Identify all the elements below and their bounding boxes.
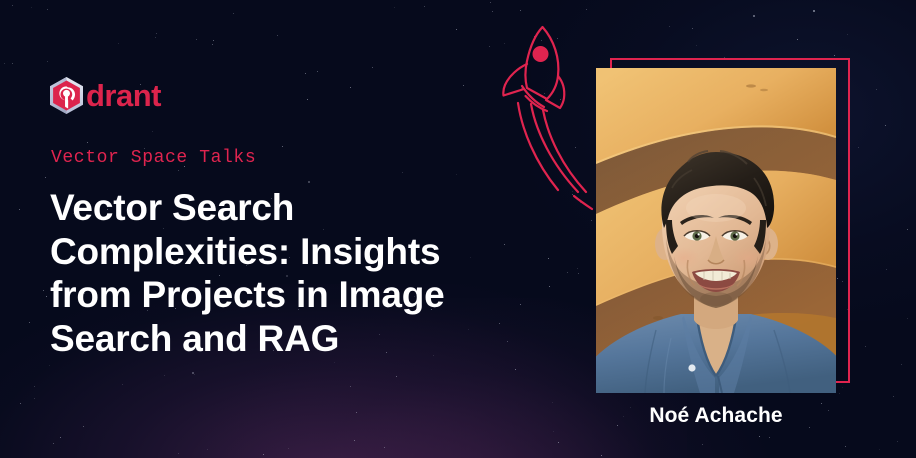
rocket-icon bbox=[494, 24, 604, 224]
series-label: Vector Space Talks bbox=[51, 148, 256, 168]
qdrant-logo[interactable]: drant bbox=[50, 76, 161, 114]
speaker-photo bbox=[596, 68, 836, 393]
talk-title: Vector Search Complexities: Insights fro… bbox=[50, 186, 480, 361]
qdrant-cube-logo-icon bbox=[50, 77, 83, 114]
talk-promo-slide: drant Vector Space Talks Vector Search C… bbox=[0, 0, 916, 458]
speaker-name: Noé Achache bbox=[596, 404, 836, 428]
qdrant-logo-wordmark: drant bbox=[86, 80, 161, 111]
